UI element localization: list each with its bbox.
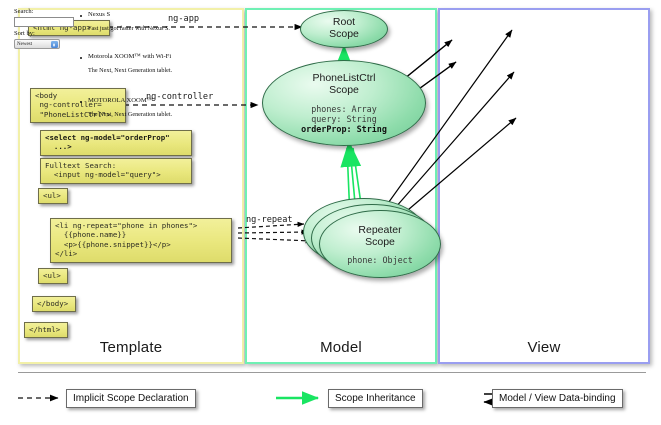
view-item-snippet: Fast just got faster with Nexus S. [88,25,170,32]
view-rendered-ui: Search: Sort by: Newest Nexus S Fast jus… [8,6,200,136]
legend-item-model-view-data-binding: Model / View Data-binding [492,389,623,408]
code-ul-open: <ul> [38,188,68,204]
ng-repeat-connector [238,224,312,241]
root-scope-node: Root Scope [300,10,388,48]
phonelistctrl-prop-phones: phones: Array [263,104,425,114]
code-fulltext-search: Fulltext Search: <input ng-model="query"… [40,158,192,184]
diagram-canvas: Template Model View [0,0,661,425]
code-ul-close: <ul> [38,268,68,284]
list-bullet-icon [80,15,82,17]
legend-item-implicit-scope-declaration: Implicit Scope Declaration [66,389,196,408]
legend: Implicit Scope Declaration Scope Inherit… [18,381,646,415]
phonelistctrl-prop-orderprop: orderProp: String [263,124,425,134]
view-sort-select-value: Newest [17,42,32,47]
view-item-name[interactable]: Motorola XOOM™ with Wi-Fi [88,53,171,60]
phonelistctrl-scope-title-line2: Scope [263,84,425,97]
view-sort-select[interactable]: Newest [14,39,60,49]
repeater-scope-title-line2: Scope [320,236,440,249]
code-li-ng-repeat: <li ng-repeat="phone in phones"> {{phone… [50,218,232,263]
chevron-updown-icon [51,41,58,48]
phonelistctrl-prop-query: query: String [263,114,425,124]
repeater-scope-title-line1: Repeater [320,224,440,237]
code-body-close: </body> [32,296,76,312]
phonelistctrl-scope-node: PhoneListCtrl Scope phones: Array query:… [262,60,426,146]
legend-item-scope-inheritance: Scope Inheritance [328,389,423,408]
repeater-prop-phone: phone: Object [320,255,440,265]
view-sort-label: Sort by: [14,30,35,37]
list-bullet-icon [80,57,82,59]
view-item-name[interactable]: MOTOROLA XOOM™ [88,97,153,104]
list-bullet-icon [80,101,82,103]
code-html-close: </html> [24,322,68,338]
legend-divider [18,372,646,373]
view-item-snippet: The Next, Next Generation tablet. [88,111,172,118]
repeater-scope-node: Repeater Scope phone: Object [319,210,441,278]
view-item-snippet: The Next, Next Generation tablet. [88,67,172,74]
view-search-label: Search: [14,8,34,15]
view-item-name[interactable]: Nexus S [88,11,110,18]
edge-label-ng-repeat: ng-repeat [246,215,293,225]
root-scope-title-line1: Root [301,16,387,29]
phonelistctrl-scope-title-line1: PhoneListCtrl [263,72,425,85]
view-search-input[interactable] [14,17,74,27]
root-scope-title-line2: Scope [301,28,387,41]
